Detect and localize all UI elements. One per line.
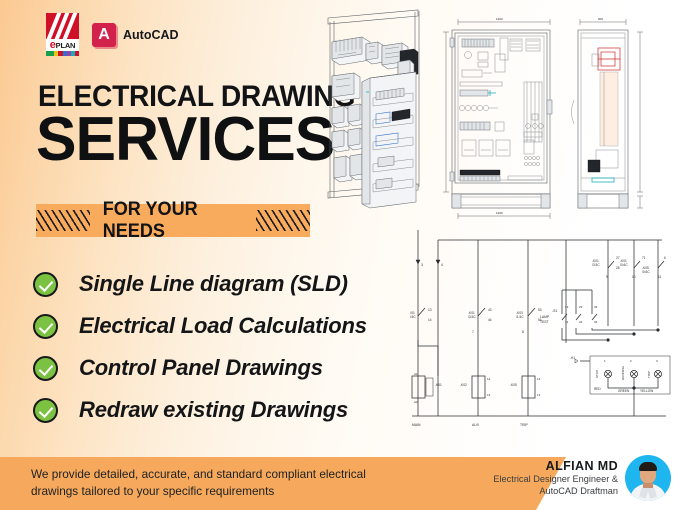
svg-text:-S1: -S1	[552, 309, 557, 313]
svg-text:34: 34	[594, 320, 598, 324]
svg-text:1200: 1200	[496, 17, 503, 21]
autocad-label: AutoCAD	[123, 28, 179, 42]
svg-text:MAIN: MAIN	[412, 423, 421, 427]
svg-text:LAMP: LAMP	[540, 315, 550, 319]
eplan-logo: ePLAN	[46, 13, 79, 56]
svg-text:13: 13	[428, 308, 432, 312]
footer-tagline-line-1: We provide detailed, accurate, and stand…	[31, 466, 451, 483]
svg-text:71: 71	[642, 256, 646, 260]
author-credit: ALFIAN MD Electrical Designer Engineer &…	[493, 455, 671, 501]
svg-text:33: 33	[594, 305, 598, 309]
autocad-mark-icon: A	[92, 23, 116, 47]
ribbon-label: FOR YOUR NEEDS	[103, 199, 244, 243]
eplan-color-bar	[46, 51, 79, 56]
svg-text:TEST: TEST	[540, 320, 549, 324]
svg-text:TRIP: TRIP	[647, 371, 651, 378]
service-label: Electrical Load Calculations	[79, 313, 367, 339]
svg-text:/3.5C: /3.5C	[410, 315, 416, 319]
svg-text:7: 7	[472, 330, 474, 334]
service-label: Control Panel Drawings	[79, 355, 323, 381]
svg-text:/3.5C: /3.5C	[468, 315, 476, 319]
svg-text:RED: RED	[594, 387, 601, 391]
svg-text:3: 3	[421, 263, 423, 267]
service-label: Single Line diagram (SLD)	[79, 271, 348, 297]
svg-text:TRIP: TRIP	[520, 423, 528, 427]
list-item: Redraw existing Drawings	[33, 389, 423, 431]
svg-text:-K05: -K05	[510, 383, 517, 387]
svg-text:1: 1	[604, 359, 606, 363]
svg-text:A1: A1	[414, 372, 418, 376]
list-item: Electrical Load Calculations	[33, 305, 423, 347]
control-schematic-drawing: 3 4 -K01 /3.5C 13 14 -K01 /3.5C 43 44 7 …	[410, 228, 678, 440]
svg-text:10: 10	[632, 275, 636, 279]
for-your-needs-ribbon: FOR YOUR NEEDS	[36, 204, 310, 237]
svg-text:600: 600	[598, 17, 603, 21]
svg-text:-K01: -K01	[435, 383, 442, 387]
list-item: Control Panel Drawings	[33, 347, 423, 389]
svg-text:13: 13	[537, 393, 541, 397]
svg-text:/3.5C: /3.5C	[592, 263, 600, 267]
svg-text:4: 4	[441, 263, 443, 267]
isometric-panel-drawing	[318, 2, 438, 234]
panel-cad-drawings: 1200	[440, 2, 678, 234]
panel-front-view: 1200	[443, 17, 552, 219]
services-list: Single Line diagram (SLD) Electrical Loa…	[33, 263, 423, 431]
svg-text:1200: 1200	[496, 211, 503, 215]
check-circle-icon	[33, 314, 58, 339]
author-role-line-2: AutoCAD Draftman	[493, 485, 618, 497]
svg-text:AUX: AUX	[472, 423, 480, 427]
svg-text:YELLOW: YELLOW	[640, 389, 653, 393]
list-item: Single Line diagram (SLD)	[33, 263, 423, 305]
svg-text:3: 3	[656, 359, 658, 363]
eplan-mark-icon	[46, 13, 79, 39]
panel-side-view: 600	[572, 17, 644, 208]
check-circle-icon	[33, 356, 58, 381]
svg-text:53: 53	[538, 308, 542, 312]
eplan-letter-plan: PLAN	[56, 41, 76, 50]
service-label: Redraw existing Drawings	[79, 397, 348, 423]
svg-text:14: 14	[565, 320, 569, 324]
svg-text:-K02: -K02	[460, 383, 467, 387]
svg-text:/0.6C: /0.6C	[620, 263, 628, 267]
hatch-left-icon	[36, 210, 90, 231]
check-circle-icon	[33, 398, 58, 423]
footer-tagline: We provide detailed, accurate, and stand…	[31, 466, 451, 500]
svg-text:RUNNING: RUNNING	[621, 365, 625, 380]
svg-text:6: 6	[664, 256, 666, 260]
author-name: ALFIAN MD	[493, 459, 618, 473]
svg-text:/1.5C: /1.5C	[516, 315, 524, 319]
svg-text:9: 9	[606, 275, 608, 279]
svg-text:2: 2	[630, 359, 632, 363]
avatar	[625, 455, 671, 501]
hatch-right-icon	[256, 210, 310, 231]
eplan-wordmark: ePLAN	[46, 39, 79, 51]
svg-text:13: 13	[487, 393, 491, 397]
svg-text:8: 8	[522, 330, 524, 334]
check-circle-icon	[33, 272, 58, 297]
svg-text:23: 23	[579, 305, 583, 309]
svg-text:14: 14	[428, 318, 432, 322]
svg-text:13: 13	[565, 305, 569, 309]
svg-text:STOP: STOP	[595, 370, 599, 378]
autocad-logo: A AutoCAD	[92, 23, 179, 47]
svg-text:14: 14	[537, 377, 541, 381]
author-role-line-1: Electrical Designer Engineer &	[493, 473, 618, 485]
logo-row: ePLAN A AutoCAD	[46, 13, 179, 56]
footer-tagline-line-2: drawings tailored to your specific requi…	[31, 483, 451, 500]
svg-text:A2: A2	[414, 400, 418, 404]
headline-line-2: SERVICES	[36, 108, 334, 172]
svg-text:GREEN: GREEN	[618, 389, 630, 393]
svg-text:24: 24	[579, 320, 583, 324]
author-text: ALFIAN MD Electrical Designer Engineer &…	[493, 459, 618, 497]
svg-text:43: 43	[488, 308, 492, 312]
svg-text:14: 14	[487, 377, 491, 381]
svg-text:-H1: -H1	[570, 356, 575, 360]
svg-text:44: 44	[488, 318, 492, 322]
poster-canvas: ePLAN A AutoCAD ELECTRICAL DRAWING SERVI…	[0, 0, 680, 510]
svg-text:/0.6C: /0.6C	[642, 270, 650, 274]
svg-text:11: 11	[658, 275, 662, 279]
